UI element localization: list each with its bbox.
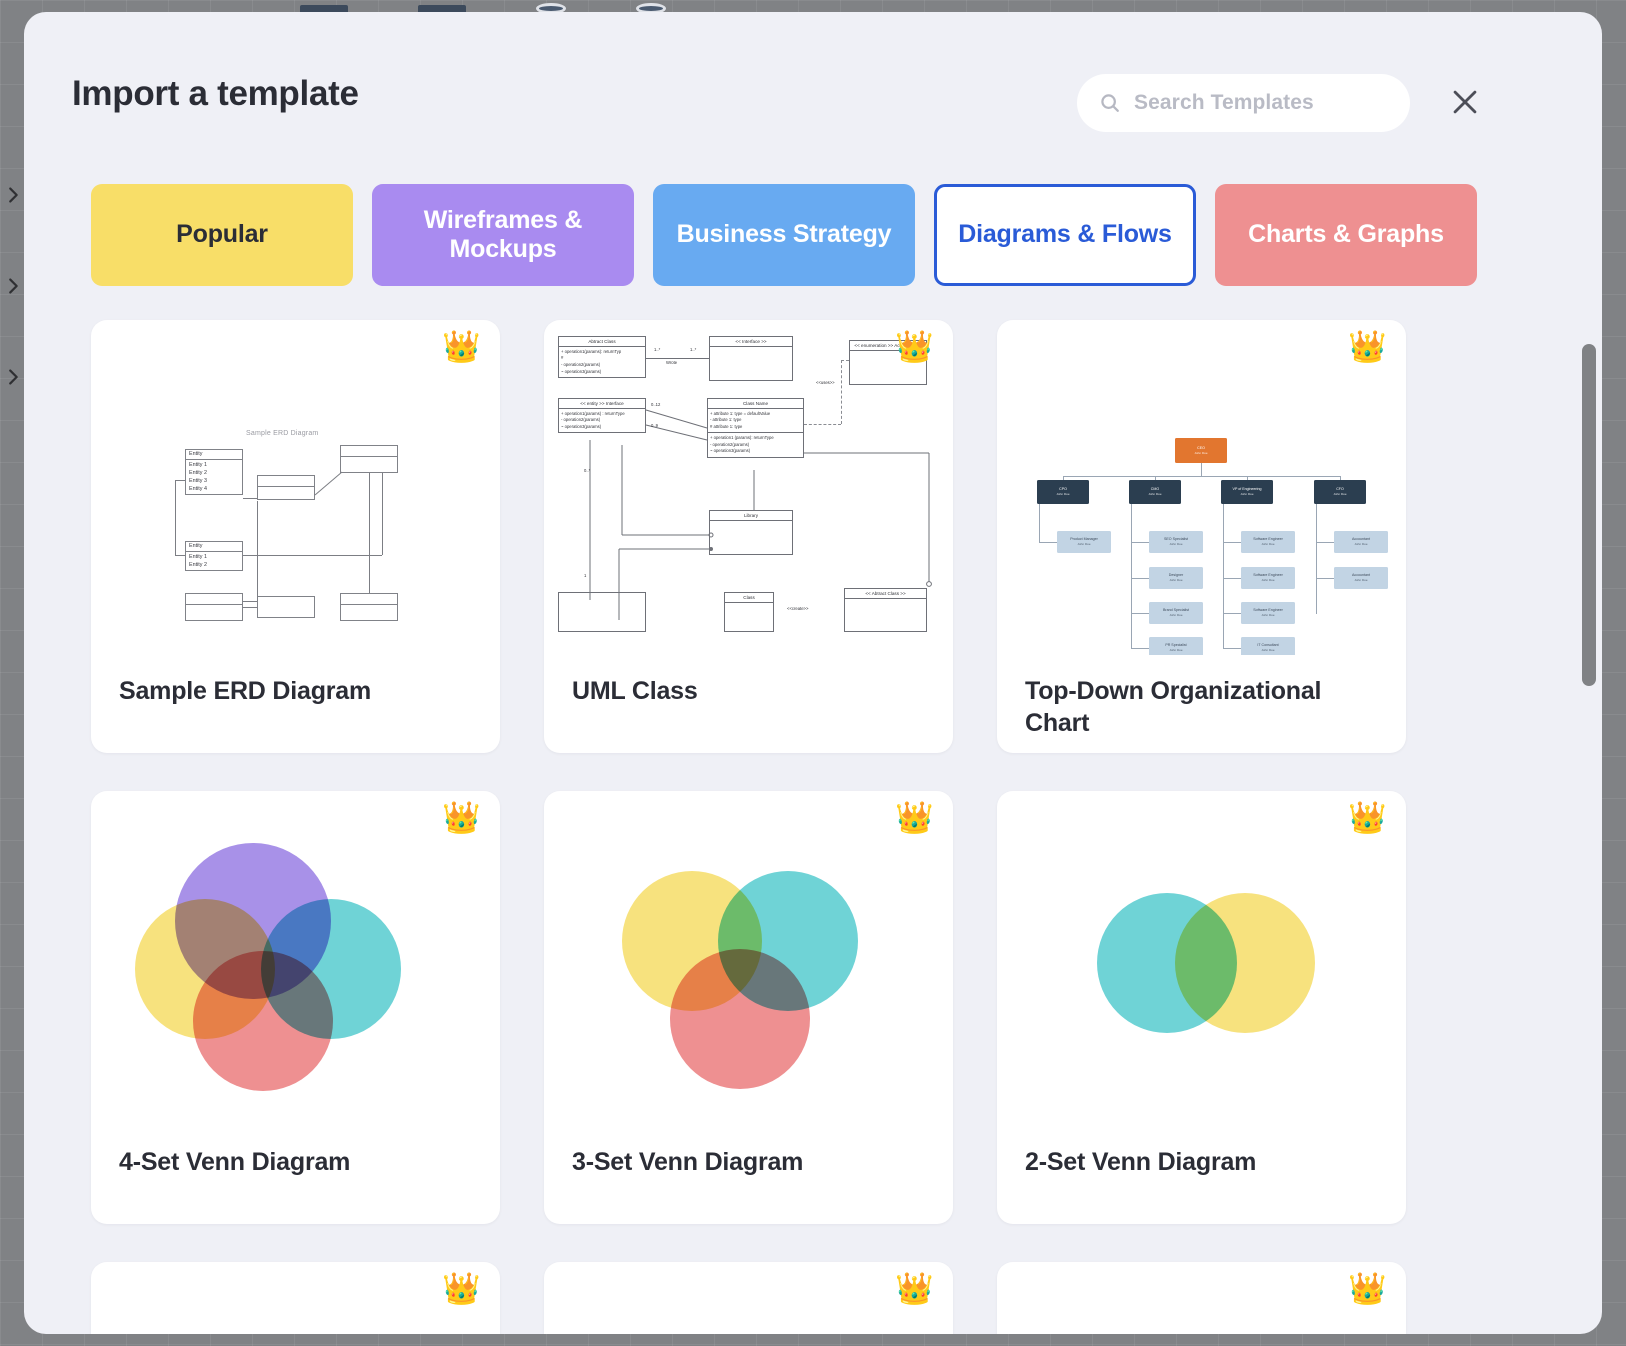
org-node-subtitle: John Doe [1169, 542, 1182, 546]
uml-edge-label: Wrote [666, 360, 677, 365]
template-thumbnail [997, 791, 1406, 1126]
org-connector [1223, 613, 1241, 614]
crown-icon: 👑 [895, 1273, 934, 1304]
org-node-level2: CMO John Doe [1129, 480, 1181, 504]
crown-icon: 👑 [1348, 1273, 1387, 1304]
uml-edge-label: <<create>> [787, 606, 808, 611]
template-thumbnail: Sample ERD Diagram Entity Entity 1 Entit… [91, 320, 500, 655]
org-node-subtitle: John Doe [1169, 648, 1182, 652]
erd-entity-box: Entity Entity 1 Entity 2 [185, 541, 243, 571]
org-connector [1131, 648, 1149, 649]
uml-class-box: << Interface >> [709, 336, 793, 381]
erd-entity-header [258, 476, 314, 487]
org-node-level2: VP of Engineering John Doe [1221, 480, 1273, 504]
template-thumbnail: CEO John Doe CPO John Doe CMO John Doe [997, 320, 1406, 655]
uml-class-box [558, 592, 646, 632]
crown-icon: 👑 [895, 802, 934, 833]
venn-circle [670, 949, 810, 1089]
erd-connector [175, 480, 185, 481]
uml-member: # [561, 355, 643, 362]
category-chip-popular[interactable]: Popular [91, 184, 353, 286]
category-label: Business Strategy [677, 220, 892, 249]
erd-row: Entity 2 [189, 561, 239, 569]
erd-row: Entity 1 [189, 461, 239, 469]
org-connector [1131, 613, 1149, 614]
org-node-level2: CFO John Doe [1314, 480, 1366, 504]
close-icon [1448, 85, 1482, 119]
org-connector [1063, 476, 1340, 477]
erd-connector [369, 473, 370, 593]
uml-member: + operation1(params) : returnType [561, 411, 643, 418]
category-filter-row: Popular Wireframes & Mockups Business St… [91, 184, 1477, 286]
erd-entity-header [341, 446, 397, 457]
org-connector [1316, 504, 1317, 614]
erd-entity-box [185, 593, 243, 621]
uml-edge-label: 0..12 [651, 402, 660, 407]
uml-class-box: << entity >> Interface + operation1(para… [558, 398, 646, 433]
erd-entity-rows: Entity 1 Entity 2 Entity 3 Entity 4 [186, 460, 242, 494]
uml-class-title: Library [710, 511, 792, 521]
template-card-uml-class[interactable]: 👑 Abtract Class + operation1(params): re… [544, 320, 953, 753]
org-node-level3: Accountant John Doe [1334, 531, 1388, 553]
uml-edge-label: 1..* [654, 347, 660, 352]
org-connector [1223, 578, 1241, 579]
uml-member: ~ operation3(params) [710, 448, 801, 455]
uml-member: - operation2(params) [561, 362, 643, 369]
uml-dashed-edge [841, 360, 842, 424]
org-node-subtitle: John Doe [1169, 578, 1182, 582]
org-node-subtitle: John Doe [1333, 492, 1346, 496]
org-node-subtitle: John Doe [1056, 492, 1069, 496]
org-node-level3: Software Engineer John Doe [1241, 531, 1295, 553]
org-node-level2: CPO John Doe [1037, 480, 1089, 504]
erd-entity-header [341, 594, 397, 605]
uml-class-box: Class Name + attribute 1: type = default… [707, 398, 804, 458]
category-label: Diagrams & Flows [958, 220, 1172, 249]
uml-member: + operation1 (params): returnType [710, 435, 801, 442]
template-card-2-set-venn-diagram[interactable]: 👑 2-Set Venn Diagram [997, 791, 1406, 1224]
uml-member: + operation1(params): returnTyp [561, 349, 643, 356]
uml-edge-label: 1 [584, 573, 586, 578]
org-connector [1223, 504, 1224, 649]
org-node-subtitle: John Doe [1261, 542, 1274, 546]
org-node-subtitle: John Doe [1240, 492, 1253, 496]
uml-class-title: << entity >> Interface [559, 399, 645, 409]
template-card-next-row[interactable]: 👑 [997, 1262, 1406, 1334]
org-connector [1131, 542, 1149, 543]
venn-2-set [997, 791, 1406, 1126]
erd-connector [243, 607, 257, 608]
scrollbar[interactable] [1582, 312, 1596, 1322]
uml-class-title: << Abtract Class >> [845, 589, 926, 599]
erd-row: Entity 4 [189, 485, 239, 493]
crown-icon: 👑 [442, 1273, 481, 1304]
org-node-level3: PR Specialist John Doe [1149, 637, 1203, 655]
org-node-level3: IT Consultant John Doe [1241, 637, 1295, 655]
org-node-subtitle: John Doe [1261, 613, 1274, 617]
erd-connector [175, 480, 176, 555]
venn-3-set [544, 791, 953, 1126]
org-node-level3: Software Engineer John Doe [1241, 567, 1295, 589]
org-node-level3: Designer John Doe [1149, 567, 1203, 589]
org-connector [1131, 578, 1149, 579]
template-thumbnail [91, 791, 500, 1126]
uml-dashed-edge [804, 424, 841, 425]
template-grid[interactable]: 👑 Sample ERD Diagram Entity Entity 1 Ent… [24, 310, 1602, 1334]
erd-title: Sample ERD Diagram [246, 430, 318, 437]
erd-entity-box [257, 596, 315, 618]
uml-class-box: Class [724, 592, 774, 632]
org-node-subtitle: John Doe [1261, 578, 1274, 582]
search-input[interactable] [1134, 91, 1388, 115]
erd-entity-header: Entity [186, 450, 242, 460]
org-connector [1131, 504, 1132, 649]
erd-connector [175, 555, 185, 556]
template-title: Sample ERD Diagram [119, 675, 478, 707]
uml-class-title: Abtract Class [559, 337, 645, 347]
template-title: UML Class [572, 675, 931, 707]
uml-edge [646, 358, 709, 359]
chevron-right-icon[interactable] [2, 275, 24, 297]
uml-edge-label: 0..* [584, 468, 590, 473]
uml-class-box: << Abtract Class >> [844, 588, 927, 632]
crown-icon: 👑 [895, 331, 934, 362]
org-connector [1039, 542, 1057, 543]
org-connector [1039, 504, 1040, 542]
template-card-4-set-venn-diagram[interactable]: 👑 4-Set Venn Diagram [91, 791, 500, 1224]
org-node-subtitle: John Doe [1354, 578, 1367, 582]
erd-entity-box [340, 593, 398, 621]
template-title: Top-Down Organizational Chart [1025, 675, 1384, 739]
search-icon [1099, 92, 1121, 114]
uml-class-box: Library [709, 510, 793, 555]
uml-class-title: Class [725, 593, 773, 603]
crown-icon: 👑 [442, 802, 481, 833]
category-chip-wireframes-mockups[interactable]: Wireframes & Mockups [372, 184, 634, 286]
org-node-level3: Brand Specialist John Doe [1149, 602, 1203, 624]
crown-icon: 👑 [442, 331, 481, 362]
org-connector [1316, 578, 1334, 579]
category-chip-business-strategy[interactable]: Business Strategy [653, 184, 915, 286]
uml-edge-label: <<uses>> [816, 380, 835, 385]
uml-edge-label: 0..9 [651, 423, 658, 428]
template-thumbnail [544, 791, 953, 1126]
template-thumbnail: Abtract Class + operation1(params): retu… [544, 320, 953, 655]
org-node-subtitle: John Doe [1077, 542, 1090, 546]
org-node-subtitle: John Doe [1261, 648, 1274, 652]
org-connector [1201, 463, 1202, 476]
uml-class-box: Abtract Class + operation1(params): retu… [558, 336, 646, 378]
uml-member: - operation2(params) [561, 417, 643, 424]
template-card-top-down-organizational-chart[interactable]: 👑 [997, 320, 1406, 753]
org-connector [1223, 542, 1241, 543]
org-node-subtitle: John Doe [1169, 613, 1182, 617]
template-title: 2-Set Venn Diagram [1025, 1146, 1384, 1178]
erd-connector [243, 498, 257, 499]
uml-class-operations: + operation1 (params): returnType - oper… [708, 432, 803, 456]
erd-entity-box [340, 445, 398, 473]
org-node-subtitle: John Doe [1354, 542, 1367, 546]
template-card-next-row[interactable]: 👑 [91, 1262, 500, 1334]
uml-class-members: + operation1(params): returnTyp # - oper… [559, 347, 645, 377]
page-title: Import a template [72, 74, 359, 114]
uml-class-title: Class Name [708, 399, 803, 409]
erd-row: Entity 2 [189, 469, 239, 477]
org-connector [1223, 648, 1241, 649]
erd-connector [243, 601, 257, 602]
uml-member: - operation2(params) [710, 442, 801, 449]
uml-member: + attribute 1: type = defaultValue [710, 411, 801, 418]
crown-icon: 👑 [1348, 331, 1387, 362]
uml-member: ~ operation3(params) [561, 424, 643, 431]
crown-icon: 👑 [1348, 802, 1387, 833]
search-box[interactable] [1077, 74, 1410, 132]
template-card-sample-erd-diagram[interactable]: 👑 Sample ERD Diagram Entity Entity 1 Ent… [91, 320, 500, 753]
erd-connector [257, 501, 258, 601]
category-chip-diagrams-flows[interactable]: Diagrams & Flows [934, 184, 1196, 286]
category-chip-charts-graphs[interactable]: Charts & Graphs [1215, 184, 1477, 286]
venn-4-set [91, 791, 500, 1126]
uml-dashed-edge [841, 360, 849, 361]
venn-circle [1175, 893, 1315, 1033]
erd-entity-box [257, 475, 315, 500]
chevron-right-icon[interactable] [2, 184, 24, 206]
org-node-level3: Accountant John Doe [1334, 567, 1388, 589]
category-label: Popular [176, 220, 268, 249]
uml-class-title: << Interface >> [710, 337, 792, 347]
uml-class-attributes: + attribute 1: type = defaultValue - att… [708, 409, 803, 432]
uml-member: ~ operation3(params) [561, 369, 643, 376]
close-button[interactable] [1437, 74, 1493, 130]
uml-class-members: + operation1(params) : returnType - oper… [559, 409, 645, 432]
uml-member: # attribute 1: type [710, 424, 801, 431]
erd-connector [243, 555, 382, 556]
erd-entity-header: Entity [186, 542, 242, 552]
org-node-ceo: CEO John Doe [1175, 438, 1227, 463]
org-node-subtitle: John Doe [1148, 492, 1161, 496]
import-template-dialog: Import a template Popular Wireframes & M… [24, 12, 1602, 1334]
category-label: Charts & Graphs [1248, 220, 1444, 249]
scrollbar-thumb[interactable] [1582, 344, 1596, 686]
uml-member: - attribute 1: type [710, 417, 801, 424]
erd-row: Entity 1 [189, 553, 239, 561]
org-node-subtitle: John Doe [1194, 451, 1207, 455]
erd-entity-header [186, 594, 242, 605]
org-node-level3: Product Manager John Doe [1057, 531, 1111, 553]
org-connector [1316, 542, 1334, 543]
chevron-right-icon[interactable] [2, 366, 24, 388]
org-node-level3: Software Engineer John Doe [1241, 602, 1295, 624]
erd-entity-rows: Entity 1 Entity 2 [186, 552, 242, 570]
category-label: Wireframes & Mockups [385, 206, 621, 265]
erd-row: Entity 3 [189, 477, 239, 485]
template-card-3-set-venn-diagram[interactable]: 👑 3-Set Venn Diagram [544, 791, 953, 1224]
template-title: 3-Set Venn Diagram [572, 1146, 931, 1178]
erd-connector [382, 473, 383, 555]
template-title: 4-Set Venn Diagram [119, 1146, 478, 1178]
dialog-header: Import a template [24, 12, 1602, 190]
org-node-level3: SEO Specialist John Doe [1149, 531, 1203, 553]
template-card-next-row[interactable]: 👑 [544, 1262, 953, 1334]
erd-entity-box: Entity Entity 1 Entity 2 Entity 3 Entity… [185, 449, 243, 495]
uml-edge-label: 1..* [690, 347, 696, 352]
venn-circle [193, 951, 333, 1091]
